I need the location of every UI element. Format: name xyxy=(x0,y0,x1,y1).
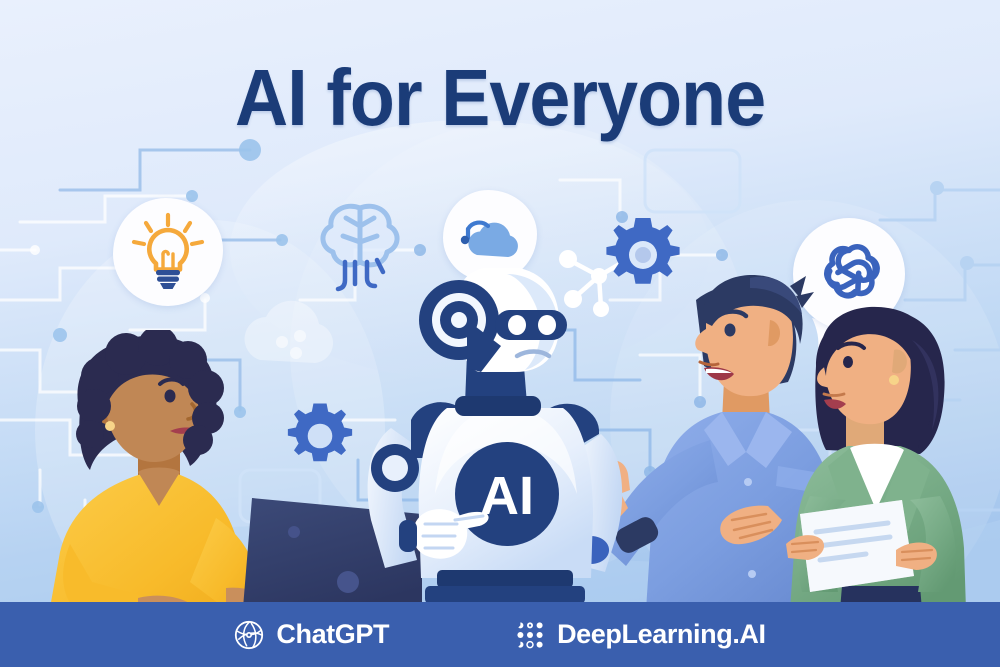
brand-chatgpt: ChatGPT xyxy=(234,619,389,650)
brand-label-chatgpt: ChatGPT xyxy=(276,619,389,650)
openai-knot-icon xyxy=(234,620,264,650)
cloud-icon xyxy=(455,205,525,267)
dot-grid-icon xyxy=(515,620,545,650)
page-title: AI for Everyone xyxy=(235,58,765,138)
lightbulb-icon xyxy=(129,212,207,292)
title-container: AI for Everyone xyxy=(0,58,1000,138)
brand-deeplearning-ai: DeepLearning.AI xyxy=(515,619,766,650)
lightbulb-bubble xyxy=(113,198,223,306)
brand-label-deeplearning: DeepLearning.AI xyxy=(557,619,766,650)
ai-for-everyone-banner: AI xyxy=(0,0,1000,667)
footer-brand-bar: ChatGPT DeepLearning.AI xyxy=(0,602,1000,667)
woman-with-document xyxy=(780,300,1000,610)
ai-robot: AI xyxy=(355,268,655,613)
